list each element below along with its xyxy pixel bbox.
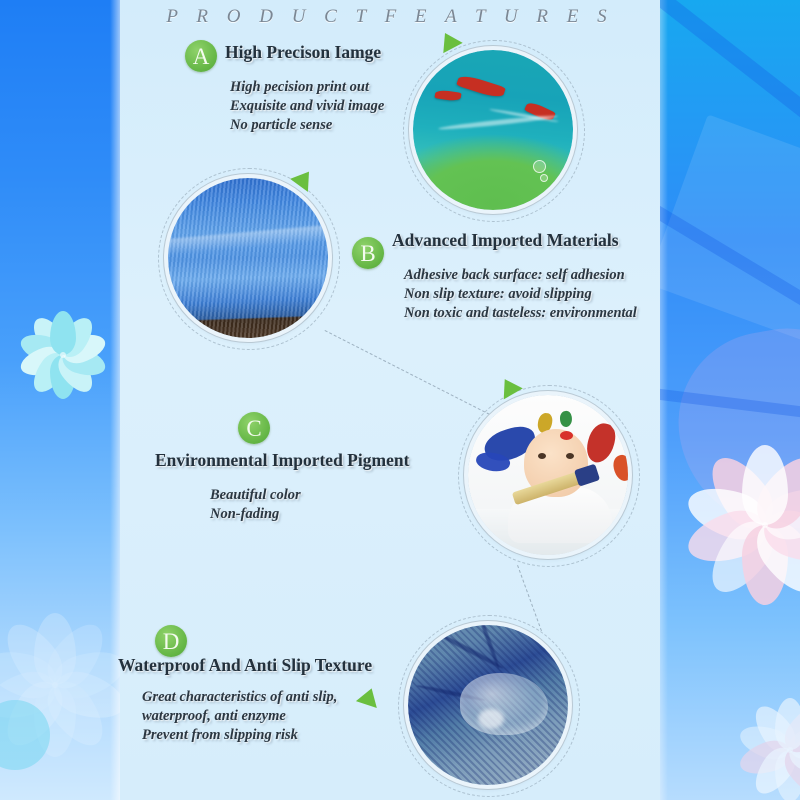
paint-splatter [610,453,628,484]
feature-body-a: High pecision print out Exquisite and vi… [230,78,384,135]
dashed-connector-line-bc [325,330,504,422]
flower-rosette-right-lower [730,690,800,800]
feature-body-b: Adhesive back surface: self adhesion Non… [404,266,637,323]
water-droplet [460,673,548,735]
paint-mark-forehead [560,431,573,440]
feature-line: Prevent from slipping risk [142,726,337,745]
feature-line: Non-fading [210,505,301,524]
feature-image-a [413,50,573,210]
baby-eye [538,453,546,459]
feature-image-d [408,625,568,785]
feature-line: Exquisite and vivid image [230,97,384,116]
fish-shape [435,89,462,102]
right-gradient-geometric-band [660,0,800,800]
waterproof-texture-droplet-photo [408,625,568,785]
droplet-highlight [478,709,504,729]
feature-body-d: Great characteristics of anti slip, wate… [142,688,337,745]
rosette-hub [60,352,66,358]
bubble-shape [533,160,546,173]
fabric-fold [168,225,328,255]
texture-vein [475,625,501,670]
baby-painting-photo [468,395,628,555]
paint-splatter [584,420,619,465]
underwater-fish-print-photo [413,50,573,210]
flower-rosette-right [670,430,800,620]
flower-petal [34,613,76,685]
feature-line: No particle sense [230,116,384,135]
paint-splatter [559,410,573,428]
rosette-hub [52,682,58,688]
feature-title-a: High Precison Iamge [225,42,381,63]
feature-line: Non toxic and tasteless: environmental [404,304,637,323]
feature-line: Great characteristics of anti slip, [142,688,337,707]
green-triangle-arrow-d [356,685,382,708]
feature-image-b [168,178,328,338]
feature-line: High pecision print out [230,78,384,97]
feature-title-c: Environmental Imported Pigment [155,450,409,471]
feature-title-b: Advanced Imported Materials [392,230,619,251]
feature-line: Adhesive back surface: self adhesion [404,266,637,285]
fish-shape [456,73,506,100]
baby-eye [566,453,574,459]
page-title: P R O D U C T F E A T U R E S [120,6,660,28]
feature-line: waterproof, anti enzyme [142,707,337,726]
feature-image-c [468,395,628,555]
feature-badge-a: A [185,40,217,72]
rosette-hub [762,522,768,528]
feature-badge-d: D [155,625,187,657]
flower-petal [50,311,76,355]
feature-body-c: Beautiful color Non-fading [210,486,301,524]
product-features-infographic: P R O D U C T F E A T U R E S A High Pre… [0,0,800,800]
feature-badge-b: B [352,237,384,269]
feature-line: Beautiful color [210,486,301,505]
feature-badge-c: C [238,412,270,444]
flower-rosette-left [8,300,118,410]
feature-line: Non slip texture: avoid slipping [404,285,637,304]
flower-petal [775,698,800,750]
left-gradient-flower-band [0,0,120,800]
feature-title-d: Waterproof And Anti Slip Texture [118,655,372,676]
content-panel: P R O D U C T F E A T U R E S A High Pre… [120,0,660,800]
rosette-hub [787,747,793,753]
blue-fabric-material-photo [168,178,328,338]
bubble-shape [540,174,548,182]
flower-petal [742,445,788,525]
